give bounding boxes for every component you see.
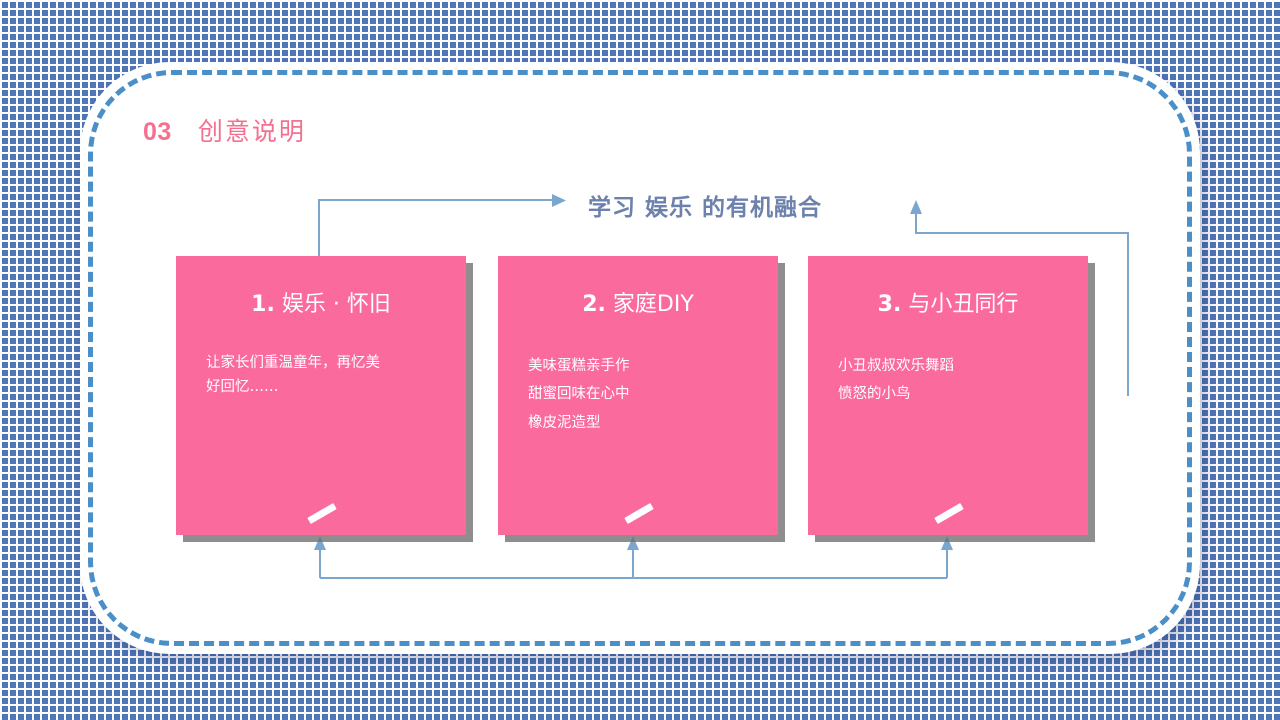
- slide-canvas: 03 创意说明 学习 娱乐 的有机融合 1. 娱乐 · 怀旧: [0, 0, 1280, 720]
- card-2-line-3: 橡皮泥造型: [528, 409, 756, 437]
- page-title: 创意说明: [198, 112, 306, 148]
- card-1-number: 1.: [251, 292, 275, 317]
- card-2-title-text: 家庭DIY: [613, 292, 694, 317]
- idea-card-2[interactable]: 2. 家庭DIY 美味蛋糕亲手作 甜蜜回味在心中 橡皮泥造型: [498, 256, 778, 535]
- card-1-line-1: 让家长们重温童年，再忆美: [206, 352, 444, 376]
- diagonal-slash-icon: [307, 503, 336, 524]
- idea-card-3[interactable]: 3. 与小丑同行 小丑叔叔欢乐舞蹈 愤怒的小鸟: [808, 256, 1088, 535]
- card-1-body: 让家长们重温童年，再忆美 好回忆……: [206, 352, 444, 400]
- card-2-number: 2.: [582, 292, 606, 317]
- section-heading: 03 创意说明: [143, 112, 306, 148]
- section-number: 03: [143, 118, 172, 147]
- card-3-title-text: 与小丑同行: [908, 292, 1018, 317]
- diagonal-slash-icon: [624, 503, 653, 524]
- card-2-title: 2. 家庭DIY: [498, 286, 778, 318]
- card-2-body: 美味蛋糕亲手作 甜蜜回味在心中 橡皮泥造型: [528, 352, 756, 437]
- card-3-body: 小丑叔叔欢乐舞蹈 愤怒的小鸟: [838, 352, 1066, 409]
- card-2-line-2: 甜蜜回味在心中: [528, 380, 756, 408]
- card-3-line-1: 小丑叔叔欢乐舞蹈: [838, 352, 1066, 380]
- card-3-number: 3.: [878, 292, 902, 317]
- diagonal-slash-icon: [934, 503, 963, 524]
- card-2-line-1: 美味蛋糕亲手作: [528, 352, 756, 380]
- card-3-title: 3. 与小丑同行: [808, 286, 1088, 318]
- card-1-title: 1. 娱乐 · 怀旧: [176, 286, 466, 318]
- card-3-line-2: 愤怒的小鸟: [838, 380, 1066, 408]
- card-1-title-text: 娱乐 · 怀旧: [282, 292, 391, 317]
- card-1-line-2: 好回忆……: [206, 376, 444, 400]
- top-heading-text: 学习 娱乐 的有机融合: [588, 188, 822, 222]
- idea-card-1[interactable]: 1. 娱乐 · 怀旧 让家长们重温童年，再忆美 好回忆……: [176, 256, 466, 535]
